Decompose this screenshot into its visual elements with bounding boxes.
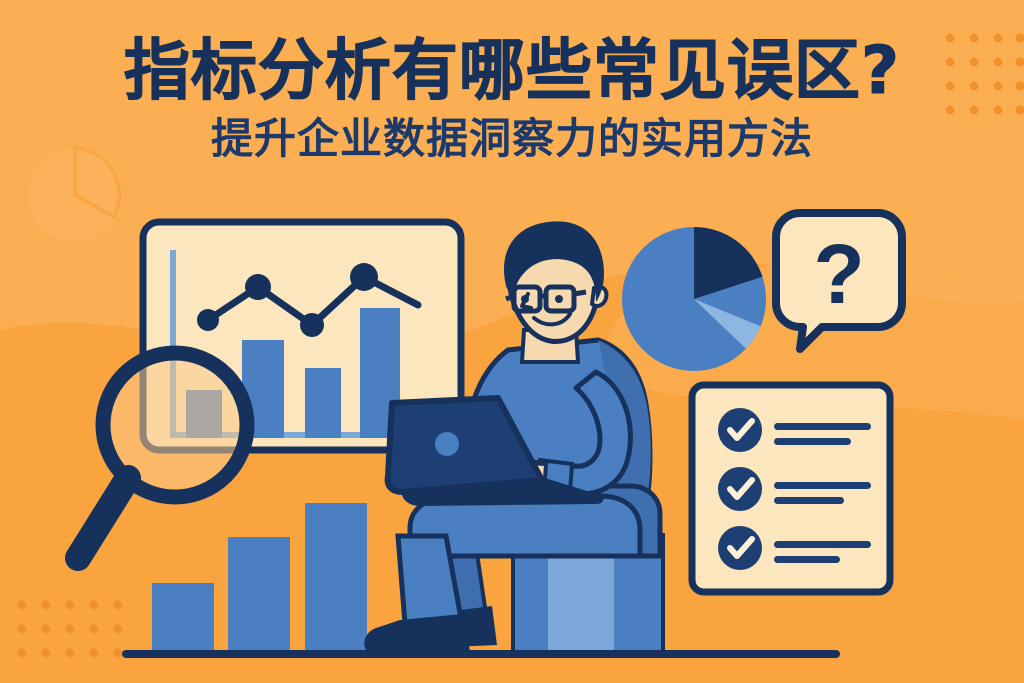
page-title: 指标分析有哪些常见误区? bbox=[0, 36, 1024, 106]
page-subtitle: 提升企业数据洞察力的实用方法 bbox=[0, 116, 1024, 162]
poster-canvas: 指标分析有哪些常见误区? 提升企业数据洞察力的实用方法 bbox=[0, 0, 1024, 683]
title-block: 指标分析有哪些常见误区? 提升企业数据洞察力的实用方法 bbox=[0, 36, 1024, 162]
